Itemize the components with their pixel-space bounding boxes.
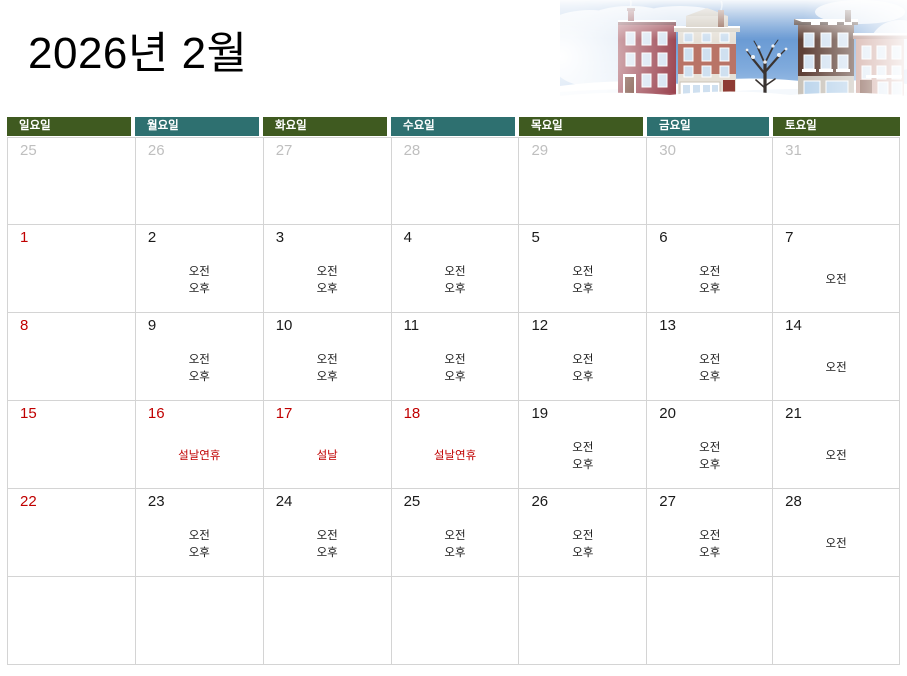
day-number: 9 xyxy=(148,317,156,335)
day-number: 19 xyxy=(531,405,548,423)
day-cell-empty xyxy=(392,577,520,664)
day-cell-28[interactable]: 28 xyxy=(392,138,520,224)
day-number: 17 xyxy=(276,405,293,423)
day-cell-empty xyxy=(647,577,773,664)
calendar-week-row xyxy=(7,577,900,665)
event-label[interactable]: 오전 xyxy=(189,352,210,369)
event-label[interactable]: 오후 xyxy=(444,545,465,562)
day-number: 18 xyxy=(404,405,421,423)
calendar-week-row: 12오전오후3오전오후4오전오후5오전오후6오전오후7오전 xyxy=(7,225,900,313)
day-events: 오전오후 xyxy=(519,339,646,398)
day-number: 20 xyxy=(659,405,676,423)
day-cell-empty xyxy=(519,577,647,664)
day-cell-15[interactable]: 15 xyxy=(8,401,136,488)
day-events: 오전 xyxy=(773,251,899,310)
day-cell-18[interactable]: 18설날연휴 xyxy=(392,401,520,488)
day-number: 26 xyxy=(531,493,548,511)
day-number: 25 xyxy=(404,493,421,511)
day-events: 오전오후 xyxy=(392,515,519,574)
day-cell-1[interactable]: 1 xyxy=(8,225,136,312)
day-cell-8[interactable]: 8 xyxy=(8,313,136,400)
header-banner-image xyxy=(560,0,907,113)
day-cell-empty xyxy=(136,577,264,664)
event-label[interactable]: 오후 xyxy=(444,281,465,298)
event-label[interactable]: 오전 xyxy=(572,264,593,281)
day-events: 오전오후 xyxy=(519,515,646,574)
day-cell-9[interactable]: 9오전오후 xyxy=(136,313,264,400)
day-cell-20[interactable]: 20오전오후 xyxy=(647,401,773,488)
event-label[interactable]: 오후 xyxy=(189,545,210,562)
day-cell-31[interactable]: 31 xyxy=(773,138,900,224)
event-label[interactable]: 오후 xyxy=(699,369,720,386)
event-label[interactable]: 오후 xyxy=(699,281,720,298)
day-number: 25 xyxy=(20,142,37,160)
day-cell-29[interactable]: 29 xyxy=(519,138,647,224)
calendar-week-row: 89오전오후10오전오후11오전오후12오전오후13오전오후14오전 xyxy=(7,313,900,401)
day-cell-30[interactable]: 30 xyxy=(647,138,773,224)
event-label[interactable]: 오전 xyxy=(572,528,593,545)
day-events: 설날연휴 xyxy=(392,427,519,486)
day-events: 오전오후 xyxy=(264,515,391,574)
day-number: 24 xyxy=(276,493,293,511)
weekday-header-2: 화요일 xyxy=(263,117,387,136)
holiday-label[interactable]: 설날 xyxy=(317,448,338,465)
event-label[interactable]: 오후 xyxy=(317,545,338,562)
day-events: 오전오후 xyxy=(647,339,772,398)
day-events: 오전오후 xyxy=(392,339,519,398)
event-label[interactable]: 오후 xyxy=(444,369,465,386)
calendar-grid: 일요일월요일화요일수요일목요일금요일토요일 2526272829303112오전… xyxy=(7,117,900,665)
day-number: 30 xyxy=(659,142,676,160)
event-label[interactable]: 오후 xyxy=(572,369,593,386)
day-cell-6[interactable]: 6오전오후 xyxy=(647,225,773,312)
calendar-week-row: 2223오전오후24오전오후25오전오후26오전오후27오전오후28오전 xyxy=(7,489,900,577)
event-label[interactable]: 오전 xyxy=(189,264,210,281)
day-events: 오전오후 xyxy=(519,427,646,486)
day-cell-21[interactable]: 21오전 xyxy=(773,401,900,488)
day-cell-16[interactable]: 16설날연휴 xyxy=(136,401,264,488)
event-label[interactable]: 오전 xyxy=(699,528,720,545)
event-label[interactable]: 오전 xyxy=(699,440,720,457)
day-cell-empty xyxy=(8,577,136,664)
day-number: 5 xyxy=(531,229,539,247)
day-events: 오전오후 xyxy=(136,251,263,310)
event-label[interactable]: 오후 xyxy=(572,281,593,298)
calendar-week-row: 1516설날연휴17설날18설날연휴19오전오후20오전오후21오전 xyxy=(7,401,900,489)
event-label[interactable]: 오전 xyxy=(572,352,593,369)
event-label[interactable]: 오후 xyxy=(317,369,338,386)
event-label[interactable]: 오전 xyxy=(826,536,847,553)
weekday-header-0: 일요일 xyxy=(7,117,131,136)
day-cell-3[interactable]: 3오전오후 xyxy=(264,225,392,312)
event-label[interactable]: 오전 xyxy=(317,528,338,545)
day-cell-23[interactable]: 23오전오후 xyxy=(136,489,264,576)
day-events: 오전오후 xyxy=(264,251,391,310)
day-events: 오전오후 xyxy=(136,339,263,398)
day-number: 13 xyxy=(659,317,676,335)
event-label[interactable]: 오전 xyxy=(572,440,593,457)
weekday-header-row: 일요일월요일화요일수요일목요일금요일토요일 xyxy=(7,117,900,136)
event-label[interactable]: 오전 xyxy=(189,528,210,545)
holiday-label[interactable]: 설날연휴 xyxy=(434,448,476,465)
day-number: 31 xyxy=(785,142,802,160)
event-label[interactable]: 오전 xyxy=(317,264,338,281)
page-title: 2026년 2월 xyxy=(28,28,248,80)
day-number: 28 xyxy=(785,493,802,511)
day-cell-4[interactable]: 4오전오후 xyxy=(392,225,520,312)
event-label[interactable]: 오전 xyxy=(826,360,847,377)
day-number: 14 xyxy=(785,317,802,335)
day-number: 7 xyxy=(785,229,793,247)
event-label[interactable]: 오전 xyxy=(826,272,847,289)
day-number: 10 xyxy=(276,317,293,335)
day-number: 22 xyxy=(20,493,37,511)
day-number: 27 xyxy=(276,142,293,160)
day-number: 23 xyxy=(148,493,165,511)
holiday-label[interactable]: 설날연휴 xyxy=(178,448,220,465)
day-events: 오전오후 xyxy=(519,251,646,310)
event-label[interactable]: 오전 xyxy=(444,528,465,545)
event-label[interactable]: 오후 xyxy=(572,457,593,474)
weekday-header-6: 토요일 xyxy=(773,117,900,136)
day-cell-empty xyxy=(264,577,392,664)
day-cell-27[interactable]: 27 xyxy=(264,138,392,224)
day-number: 3 xyxy=(276,229,284,247)
day-events: 오전오후 xyxy=(647,515,772,574)
day-cell-26[interactable]: 26오전오후 xyxy=(519,489,647,576)
day-number: 2 xyxy=(148,229,156,247)
event-label[interactable]: 오전 xyxy=(317,352,338,369)
event-label[interactable]: 오전 xyxy=(444,352,465,369)
day-number: 4 xyxy=(404,229,412,247)
day-cell-19[interactable]: 19오전오후 xyxy=(519,401,647,488)
day-cell-14[interactable]: 14오전 xyxy=(773,313,900,400)
day-events: 오전오후 xyxy=(647,251,772,310)
weekday-header-4: 목요일 xyxy=(519,117,643,136)
day-cell-24[interactable]: 24오전오후 xyxy=(264,489,392,576)
day-events: 오전오후 xyxy=(264,339,391,398)
calendar-weeks: 2526272829303112오전오후3오전오후4오전오후5오전오후6오전오후… xyxy=(7,137,900,665)
day-cell-empty xyxy=(773,577,900,664)
day-cell-26[interactable]: 26 xyxy=(136,138,264,224)
day-events: 설날연휴 xyxy=(136,427,263,486)
day-cell-11[interactable]: 11오전오후 xyxy=(392,313,520,400)
day-number: 27 xyxy=(659,493,676,511)
weekday-header-5: 금요일 xyxy=(647,117,769,136)
day-cell-25[interactable]: 25 xyxy=(8,138,136,224)
event-label[interactable]: 오전 xyxy=(699,264,720,281)
event-label[interactable]: 오전 xyxy=(699,352,720,369)
day-cell-28[interactable]: 28오전 xyxy=(773,489,900,576)
event-label[interactable]: 오후 xyxy=(699,545,720,562)
day-number: 8 xyxy=(20,317,28,335)
event-label[interactable]: 오후 xyxy=(189,281,210,298)
day-number: 15 xyxy=(20,405,37,423)
day-number: 16 xyxy=(148,405,165,423)
day-events: 오전 xyxy=(773,427,899,486)
event-label[interactable]: 오후 xyxy=(699,457,720,474)
day-cell-7[interactable]: 7오전 xyxy=(773,225,900,312)
day-cell-13[interactable]: 13오전오후 xyxy=(647,313,773,400)
day-cell-12[interactable]: 12오전오후 xyxy=(519,313,647,400)
day-number: 11 xyxy=(404,317,420,335)
day-number: 29 xyxy=(531,142,548,160)
day-number: 21 xyxy=(785,405,802,423)
event-label[interactable]: 오후 xyxy=(317,281,338,298)
day-events: 오전오후 xyxy=(136,515,263,574)
day-number: 1 xyxy=(20,229,28,247)
day-cell-22[interactable]: 22 xyxy=(8,489,136,576)
weekday-header-1: 월요일 xyxy=(135,117,259,136)
calendar-week-row: 25262728293031 xyxy=(7,137,900,225)
day-events: 오전 xyxy=(773,339,899,398)
day-cell-25[interactable]: 25오전오후 xyxy=(392,489,520,576)
day-number: 26 xyxy=(148,142,165,160)
event-label[interactable]: 오후 xyxy=(572,545,593,562)
day-events: 오전 xyxy=(773,515,899,574)
day-cell-17[interactable]: 17설날 xyxy=(264,401,392,488)
day-cell-10[interactable]: 10오전오후 xyxy=(264,313,392,400)
day-cell-2[interactable]: 2오전오후 xyxy=(136,225,264,312)
day-number: 28 xyxy=(404,142,421,160)
event-label[interactable]: 오후 xyxy=(189,369,210,386)
day-number: 12 xyxy=(531,317,548,335)
event-label[interactable]: 오전 xyxy=(444,264,465,281)
day-number: 6 xyxy=(659,229,667,247)
day-events: 오전오후 xyxy=(647,427,772,486)
day-cell-5[interactable]: 5오전오후 xyxy=(519,225,647,312)
event-label[interactable]: 오전 xyxy=(826,448,847,465)
weekday-header-3: 수요일 xyxy=(391,117,515,136)
day-events: 설날 xyxy=(264,427,391,486)
day-cell-27[interactable]: 27오전오후 xyxy=(647,489,773,576)
day-events: 오전오후 xyxy=(392,251,519,310)
